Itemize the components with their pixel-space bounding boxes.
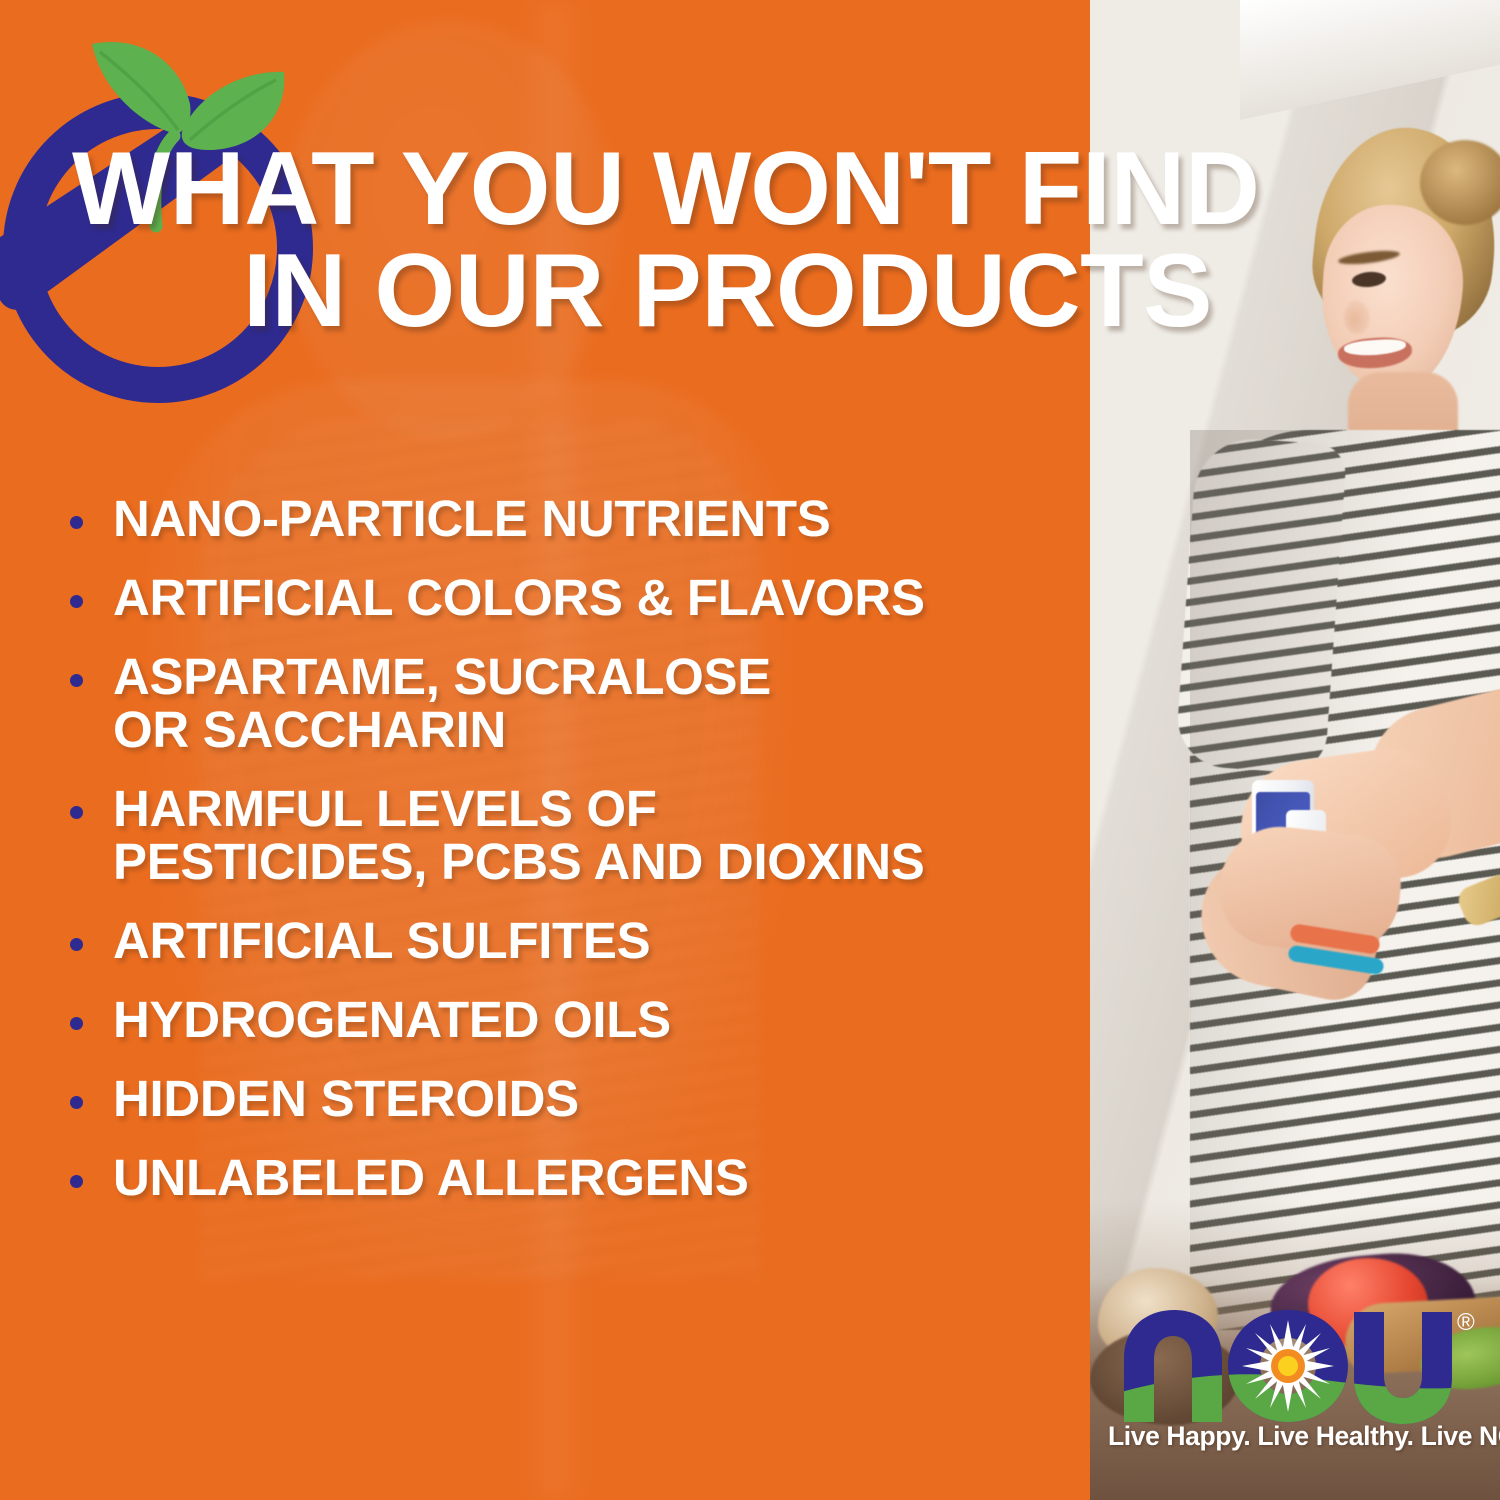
sunburst-icon [1242, 1320, 1334, 1412]
list-item: ARTIFICIAL COLORS & FLAVORS [70, 571, 1080, 624]
bullet-dot-icon [70, 1017, 83, 1030]
headline-line-2: IN OUR PRODUCTS [0, 244, 1460, 340]
list-item: ARTIFICIAL SULFITES [70, 914, 1080, 967]
list-item-label: HIDDEN STEROIDS [113, 1072, 579, 1125]
now-brand-logo: ® [1108, 1300, 1476, 1480]
page-title: WHAT YOU WON'T FIND IN OUR PRODUCTS [0, 142, 1460, 339]
infographic-canvas: WHAT YOU WON'T FIND IN OUR PRODUCTS NANO… [0, 0, 1500, 1500]
list-item-label: HARMFUL LEVELS OFPESTICIDES, PCBS AND DI… [113, 782, 925, 888]
exclusion-list: NANO-PARTICLE NUTRIENTS ARTIFICIAL COLOR… [70, 492, 1080, 1230]
list-item-label: ARTIFICIAL SULFITES [113, 914, 650, 967]
registered-mark-icon: ® [1457, 1309, 1475, 1336]
list-item: NANO-PARTICLE NUTRIENTS [70, 492, 1080, 545]
list-item-label: UNLABELED ALLERGENS [113, 1151, 749, 1204]
list-item: HYDROGENATED OILS [70, 993, 1080, 1046]
list-item-label: HYDROGENATED OILS [113, 993, 671, 1046]
list-item: ASPARTAME, SUCRALOSEOR SACCHARIN [70, 650, 1080, 756]
bullet-dot-icon [70, 595, 83, 608]
list-item: UNLABELED ALLERGENS [70, 1151, 1080, 1204]
bullet-dot-icon [70, 806, 83, 819]
headline-line-1: WHAT YOU WON'T FIND [0, 142, 1460, 238]
bullet-dot-icon [70, 516, 83, 529]
brand-tagline: Live Happy. Live Healthy. Live NOW. [1108, 1421, 1476, 1452]
headline-line-1-suffix: FIND [990, 131, 1259, 247]
list-item: HIDDEN STEROIDS [70, 1072, 1080, 1125]
list-item-label: ARTIFICIAL COLORS & FLAVORS [113, 571, 925, 624]
headline-line-1-prefix: WHAT YOU [72, 131, 653, 247]
list-item: HARMFUL LEVELS OFPESTICIDES, PCBS AND DI… [70, 782, 1080, 888]
bullet-dot-icon [70, 1096, 83, 1109]
bullet-dot-icon [70, 1175, 83, 1188]
bullet-dot-icon [70, 938, 83, 951]
bullet-dot-icon [70, 674, 83, 687]
list-item-label: ASPARTAME, SUCRALOSEOR SACCHARIN [113, 650, 771, 756]
list-item-label: NANO-PARTICLE NUTRIENTS [113, 492, 830, 545]
headline-emphasis-wont: WON'T [653, 131, 990, 247]
